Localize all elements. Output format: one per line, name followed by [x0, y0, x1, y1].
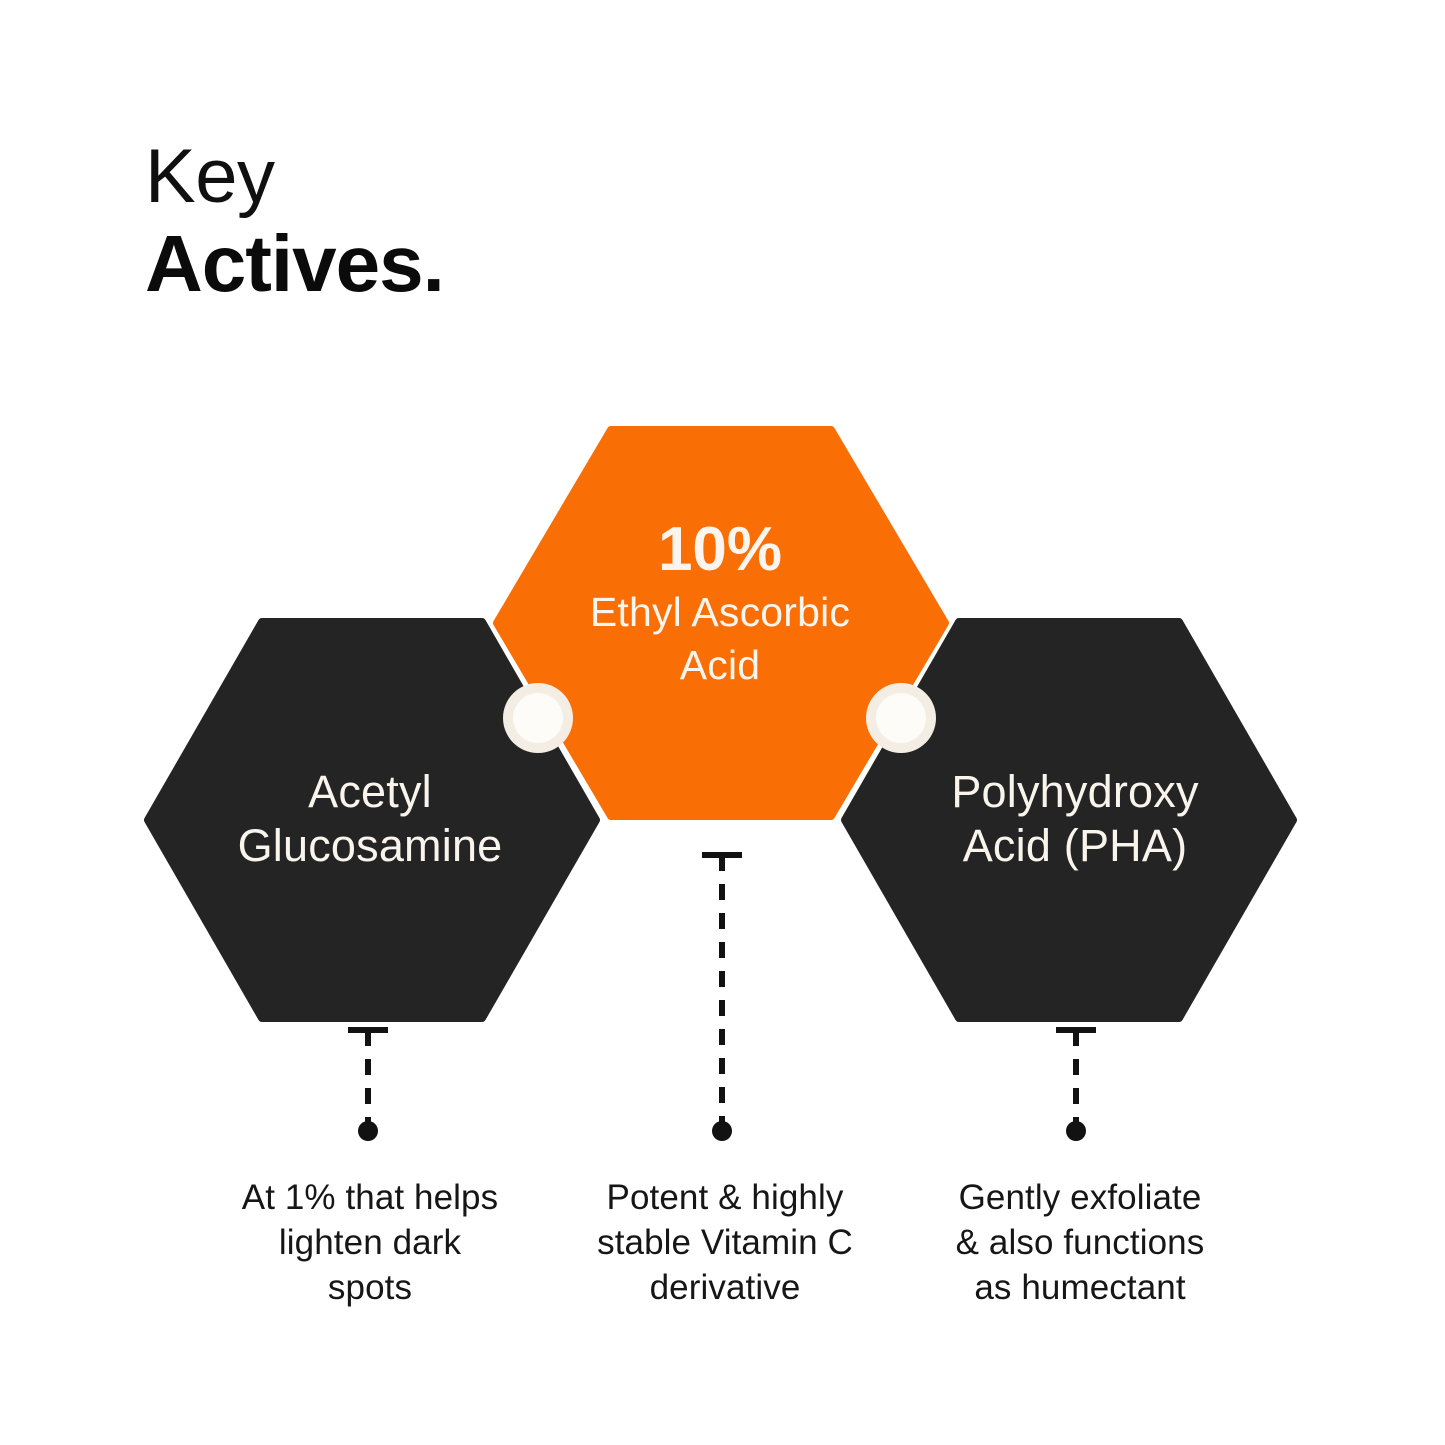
caption-line2: & also functions — [915, 1220, 1245, 1265]
caption-ethyl-ascorbic-acid: Potent & highly stable Vitamin C derivat… — [560, 1175, 890, 1310]
leader-line-acetyl-glucosamine — [348, 1030, 388, 1141]
infographic-page: Key Actives. — [0, 0, 1445, 1445]
connector-dot-left — [503, 683, 573, 753]
connector-dot-right — [866, 683, 936, 753]
caption-line2: stable Vitamin C — [560, 1220, 890, 1265]
caption-line2: lighten dark — [205, 1220, 535, 1265]
hexagon-diagram: Acetyl Glucosamine 10% Ethyl Ascorbic Ac… — [0, 0, 1445, 1445]
leader-line-ethyl-ascorbic-acid — [702, 855, 742, 1141]
caption-line1: Potent & highly — [560, 1175, 890, 1220]
caption-line3: spots — [205, 1265, 535, 1310]
caption-acetyl-glucosamine: At 1% that helps lighten dark spots — [205, 1175, 535, 1310]
caption-polyhydroxy-acid: Gently exfoliate & also functions as hum… — [915, 1175, 1245, 1310]
caption-line1: Gently exfoliate — [915, 1175, 1245, 1220]
caption-line1: At 1% that helps — [205, 1175, 535, 1220]
leader-line-polyhydroxy-acid — [1056, 1030, 1096, 1141]
caption-line3: as humectant — [915, 1265, 1245, 1310]
caption-line3: derivative — [560, 1265, 890, 1310]
